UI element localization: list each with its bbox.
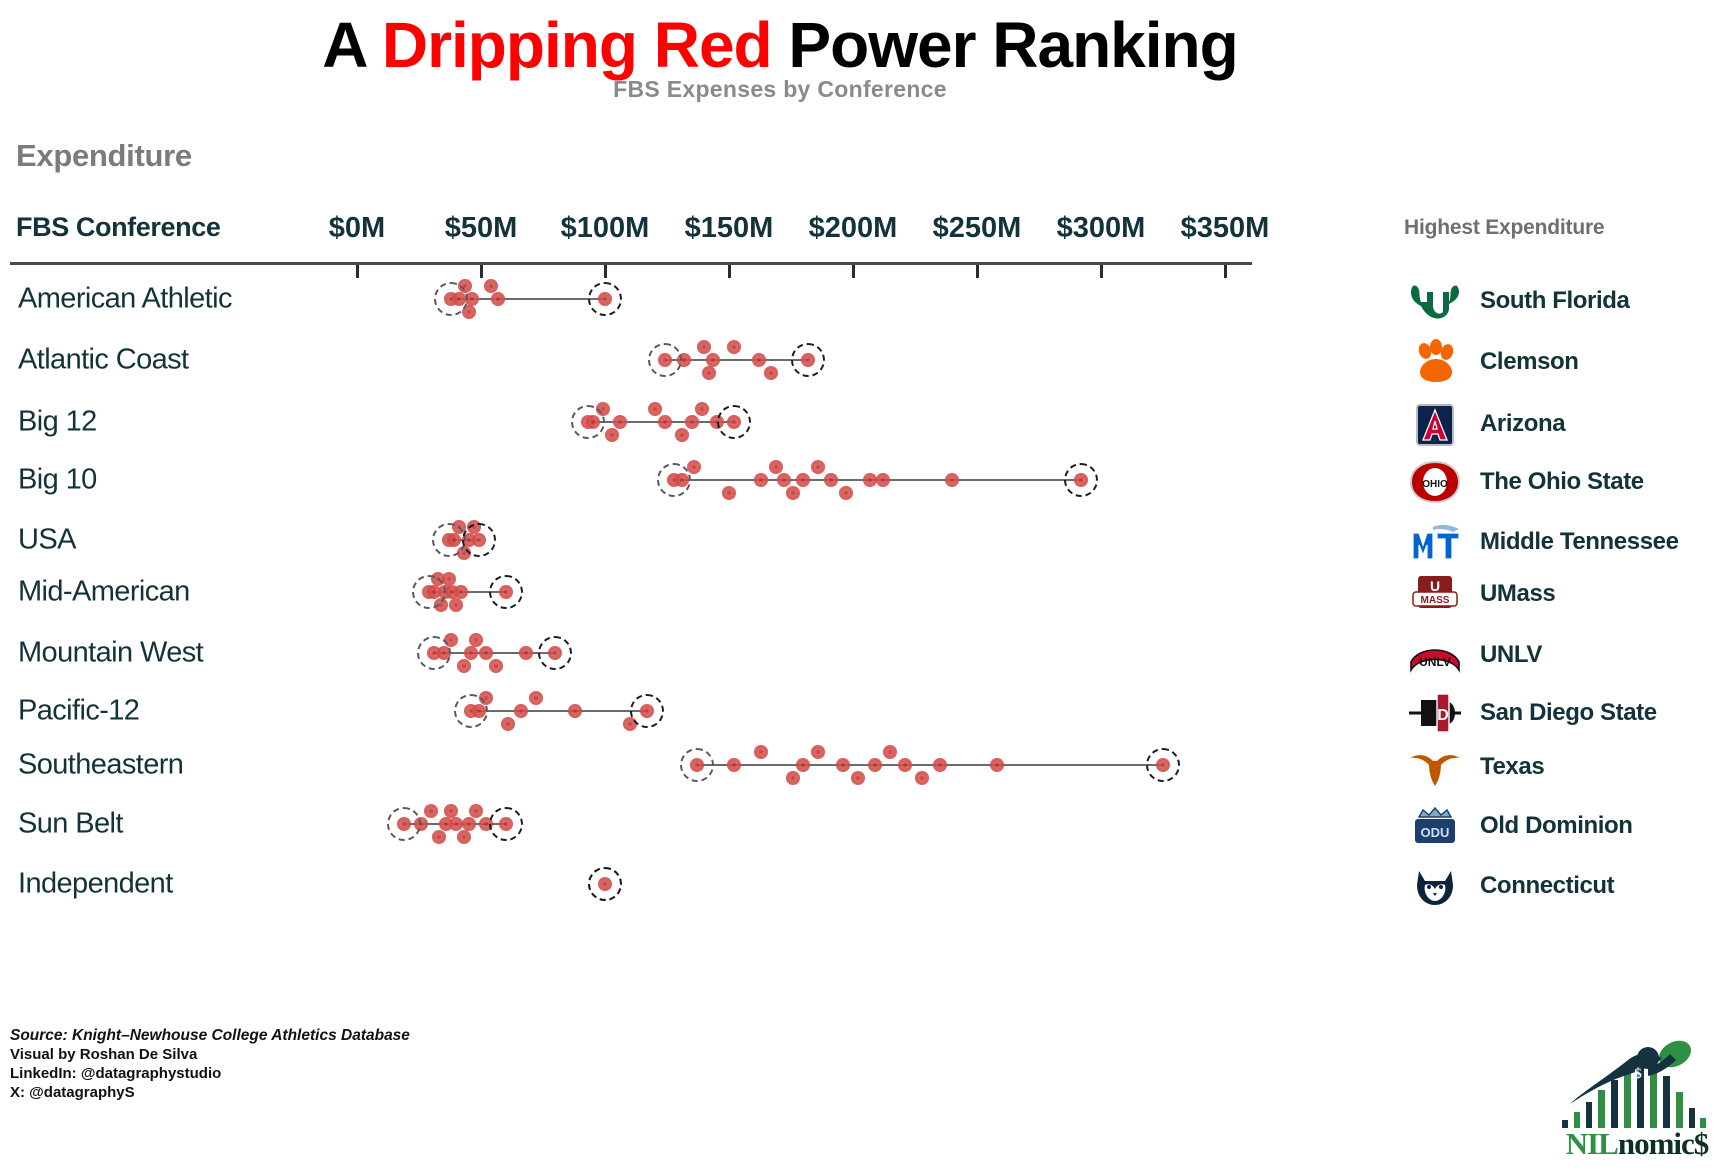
footer-linkedin: LinkedIn: @datagraphystudio (10, 1064, 410, 1083)
x-axis-tick-label: $250M (933, 212, 1022, 245)
south-florida-bull-logo (1404, 277, 1466, 325)
school-expense-dot[interactable] (695, 402, 709, 416)
school-expense-dot[interactable] (658, 415, 672, 429)
range-connector-line (434, 652, 556, 654)
conference-row-label: Mid-American (18, 576, 190, 609)
page-title: A Dripping Red Power Ranking (0, 8, 1560, 82)
brand-nil-text: NIL (1566, 1126, 1618, 1161)
school-expense-dot[interactable] (462, 817, 476, 831)
legend-school-name: South Florida (1480, 287, 1629, 315)
max-value-halo (462, 523, 496, 557)
min-value-halo (680, 748, 714, 782)
school-expense-dot[interactable] (519, 646, 533, 660)
x-axis-tick (976, 265, 979, 278)
school-expense-dot[interactable] (444, 804, 458, 818)
school-expense-dot[interactable] (501, 717, 515, 731)
range-connector-line (697, 764, 1163, 766)
school-expense-dot[interactable] (727, 340, 741, 354)
x-axis-tick (480, 265, 483, 278)
x-axis-tick-label: $150M (685, 212, 774, 245)
min-value-halo (648, 343, 682, 377)
conference-row-label: Pacific-12 (18, 695, 139, 728)
school-expense-dot[interactable] (464, 646, 478, 660)
ohio-state-logo: OHIO (1404, 458, 1466, 506)
school-expense-dot[interactable] (529, 691, 543, 705)
svg-text:MASS: MASS (1421, 595, 1450, 606)
x-axis-tick (1100, 265, 1103, 278)
svg-text:ODU: ODU (1421, 825, 1450, 840)
school-expense-dot[interactable] (752, 353, 766, 367)
min-value-halo (657, 463, 691, 497)
legend-item[interactable]: UNLVUNLV (1404, 629, 1542, 681)
legend-item[interactable]: OHIOThe Ohio State (1404, 456, 1644, 508)
nilnomics-mark-icon: $ (1552, 1032, 1722, 1137)
school-expense-dot[interactable] (432, 830, 446, 844)
expenditure-axis-title: Expenditure (16, 138, 192, 174)
school-expense-dot[interactable] (469, 633, 483, 647)
school-expense-dot[interactable] (424, 804, 438, 818)
school-expense-dot[interactable] (796, 473, 810, 487)
range-connector-line (471, 710, 647, 712)
legend-school-name: Texas (1480, 753, 1544, 781)
svg-text:UNLV: UNLV (1419, 655, 1451, 669)
max-value-halo (489, 575, 523, 609)
conference-row-label: Southeastern (18, 749, 183, 782)
school-expense-dot[interactable] (764, 366, 778, 380)
school-expense-dot[interactable] (777, 473, 791, 487)
svg-text:OHIO: OHIO (1422, 479, 1448, 490)
conference-column-header: FBS Conference (16, 212, 220, 243)
school-expense-dot[interactable] (836, 758, 850, 772)
x-axis-tick-label: $100M (561, 212, 650, 245)
conference-row-label: Big 12 (18, 406, 97, 439)
legend-item[interactable]: ODUOld Dominion (1404, 800, 1633, 852)
legend-item[interactable]: Connecticut (1404, 860, 1614, 912)
school-expense-dot[interactable] (796, 758, 810, 772)
svg-text:$: $ (1634, 1066, 1642, 1082)
x-axis-tick (1224, 265, 1227, 278)
legend-school-name: Arizona (1480, 410, 1565, 438)
school-expense-dot[interactable] (491, 292, 505, 306)
school-expense-dot[interactable] (514, 704, 528, 718)
school-expense-dot[interactable] (811, 460, 825, 474)
legend-item[interactable]: UMASSUMass (1404, 568, 1555, 620)
footer-x: X: @datagraphyS (10, 1083, 410, 1102)
legend-school-name: Old Dominion (1480, 812, 1633, 840)
school-expense-dot[interactable] (754, 473, 768, 487)
legend-school-name: Clemson (1480, 348, 1579, 376)
school-expense-dot[interactable] (811, 745, 825, 759)
arizona-block-a-logo (1404, 400, 1466, 448)
school-expense-dot[interactable] (454, 585, 468, 599)
unlv-logo: UNLV (1404, 631, 1466, 679)
max-value-halo (717, 405, 751, 439)
school-expense-dot[interactable] (605, 428, 619, 442)
school-expense-dot[interactable] (568, 704, 582, 718)
x-axis-tick (356, 265, 359, 278)
max-value-halo (1064, 463, 1098, 497)
school-expense-dot[interactable] (613, 415, 627, 429)
footer-visual-by: Visual by Roshan De Silva (10, 1045, 410, 1064)
min-value-halo (412, 575, 446, 609)
legend-item[interactable]: Middle Tennessee (1404, 516, 1679, 568)
conference-row-label: American Athletic (18, 283, 232, 316)
school-expense-dot[interactable] (457, 659, 471, 673)
legend-item[interactable]: Clemson (1404, 336, 1579, 388)
x-axis-tick (604, 265, 607, 278)
legend-school-name: San Diego State (1480, 699, 1657, 727)
school-expense-dot[interactable] (469, 804, 483, 818)
school-expense-dot[interactable] (786, 771, 800, 785)
svg-text:D: D (1437, 707, 1449, 724)
school-expense-dot[interactable] (851, 771, 865, 785)
school-expense-dot[interactable] (457, 830, 471, 844)
infographic-canvas: A Dripping Red Power Ranking FBS Expense… (0, 0, 1728, 1169)
school-expense-dot[interactable] (675, 428, 689, 442)
school-expense-dot[interactable] (839, 486, 853, 500)
school-expense-dot[interactable] (754, 745, 768, 759)
old-dominion-odu-logo: ODU (1404, 802, 1466, 850)
x-axis-tick (728, 265, 731, 278)
school-expense-dot[interactable] (702, 366, 716, 380)
school-expense-dot[interactable] (722, 486, 736, 500)
school-expense-dot[interactable] (876, 473, 890, 487)
max-value-halo (791, 343, 825, 377)
max-value-halo (1146, 748, 1180, 782)
school-expense-dot[interactable] (945, 473, 959, 487)
legend-school-name: The Ohio State (1480, 468, 1644, 496)
max-value-halo (630, 694, 664, 728)
school-expense-dot[interactable] (697, 340, 711, 354)
school-expense-dot[interactable] (769, 460, 783, 474)
legend-item[interactable]: Arizona (1404, 398, 1565, 450)
school-expense-dot[interactable] (648, 402, 662, 416)
page-subtitle: FBS Expenses by Conference (0, 76, 1560, 103)
school-expense-dot[interactable] (868, 758, 882, 772)
school-expense-dot[interactable] (489, 659, 503, 673)
school-expense-dot[interactable] (479, 646, 493, 660)
highest-expenditure-column-header: Highest Expenditure (1404, 216, 1604, 240)
footer-credits: Source: Knight–Newhouse College Athletic… (10, 1026, 410, 1102)
legend-school-name: UNLV (1480, 641, 1542, 669)
school-expense-dot[interactable] (898, 758, 912, 772)
clemson-paw-logo (1404, 338, 1466, 386)
x-axis-tick-label: $300M (1057, 212, 1146, 245)
x-axis-tick-label: $50M (445, 212, 518, 245)
middle-tennessee-mt-logo (1404, 518, 1466, 566)
legend-school-name: Connecticut (1480, 872, 1614, 900)
x-axis-tick (852, 265, 855, 278)
brand-nomics-text: nomic$ (1618, 1126, 1708, 1161)
max-value-halo (588, 867, 622, 901)
x-axis-tick-label: $0M (329, 212, 385, 245)
conference-row-label: Atlantic Coast (18, 344, 189, 377)
school-expense-dot[interactable] (727, 758, 741, 772)
nilnomics-wordmark: NILnomic$ (1552, 1126, 1722, 1162)
school-expense-dot[interactable] (824, 473, 838, 487)
max-value-halo (538, 636, 572, 670)
school-expense-dot[interactable] (484, 279, 498, 293)
umass-logo: UMASS (1404, 570, 1466, 618)
conference-row-label: USA (18, 524, 76, 557)
nilnomics-logo: $ NILnomic$ (1552, 1032, 1722, 1164)
min-value-halo (454, 694, 488, 728)
x-axis-tick-label: $200M (809, 212, 898, 245)
school-expense-dot[interactable] (706, 353, 720, 367)
school-expense-dot[interactable] (933, 758, 947, 772)
school-expense-dot[interactable] (915, 771, 929, 785)
school-expense-dot[interactable] (685, 415, 699, 429)
legend-item[interactable]: DSan Diego State (1404, 687, 1657, 739)
min-value-halo (387, 807, 421, 841)
x-axis-tick-label: $350M (1181, 212, 1270, 245)
legend-item[interactable]: Texas (1404, 741, 1544, 793)
min-value-halo (571, 405, 605, 439)
title-part-2: Power Ranking (772, 9, 1238, 81)
x-axis-line (10, 262, 1252, 265)
title-part-1: A (322, 9, 382, 81)
texas-longhorn-logo (1404, 743, 1466, 791)
min-value-halo (434, 282, 468, 316)
legend-school-name: UMass (1480, 580, 1555, 608)
school-expense-dot[interactable] (449, 598, 463, 612)
san-diego-state-logo: D (1404, 689, 1466, 737)
legend-school-name: Middle Tennessee (1480, 528, 1679, 556)
connecticut-husky-logo (1404, 862, 1466, 910)
conference-row-label: Sun Belt (18, 808, 123, 841)
title-accent: Dripping Red (382, 9, 772, 81)
conference-row-label: Independent (18, 868, 173, 901)
conference-row-label: Big 10 (18, 464, 97, 497)
school-expense-dot[interactable] (786, 486, 800, 500)
min-value-halo (417, 636, 451, 670)
conference-row-label: Mountain West (18, 637, 203, 670)
max-value-halo (588, 282, 622, 316)
school-expense-dot[interactable] (990, 758, 1004, 772)
footer-source: Source: Knight–Newhouse College Athletic… (10, 1026, 410, 1045)
max-value-halo (489, 807, 523, 841)
school-expense-dot[interactable] (883, 745, 897, 759)
legend-item[interactable]: South Florida (1404, 275, 1629, 327)
